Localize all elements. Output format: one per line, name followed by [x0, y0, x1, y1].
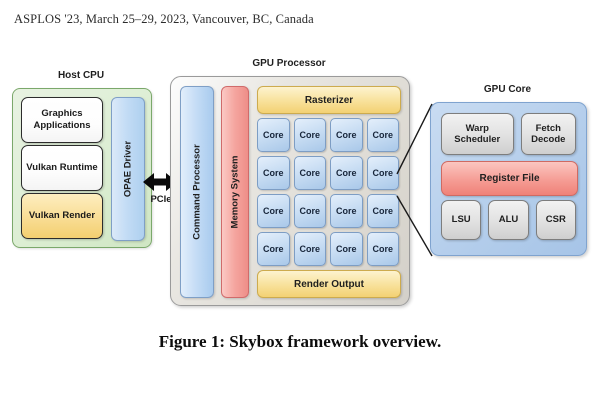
gpu-core-container: Warp Scheduler Fetch Decode Register Fil…	[430, 102, 587, 256]
host-cpu-software-stack: Graphics Applications Vulkan Runtime Vul…	[21, 97, 103, 239]
warp-scheduler-block: Warp Scheduler	[441, 113, 514, 155]
gpu-processor-container: Command Processor Memory System Rasteriz…	[170, 76, 410, 306]
gpu-core-frontend-row: Warp Scheduler Fetch Decode	[441, 113, 576, 155]
figure-skybox-framework: Host CPU Graphics Applications Vulkan Ru…	[0, 56, 600, 326]
figure-caption: Figure 1: Skybox framework overview.	[0, 332, 600, 352]
gpu-core-grid: CoreCoreCoreCoreCoreCoreCoreCoreCoreCore…	[257, 118, 399, 266]
command-processor-label: Command Processor	[192, 144, 203, 240]
csr-block: CSR	[536, 200, 576, 240]
core-cell: Core	[257, 156, 290, 190]
alu-block: ALU	[488, 200, 528, 240]
rasterizer-block: Rasterizer	[257, 86, 401, 114]
fetch-decode-block: Fetch Decode	[521, 113, 576, 155]
register-file-block: Register File	[441, 161, 578, 196]
lsu-block: LSU	[441, 200, 481, 240]
core-cell: Core	[257, 118, 290, 152]
core-cell: Core	[294, 118, 327, 152]
core-cell: Core	[294, 156, 327, 190]
core-cell: Core	[330, 156, 363, 190]
render-output-block: Render Output	[257, 270, 401, 298]
memory-system-block: Memory System	[221, 86, 249, 298]
vulkan-render-block: Vulkan Render	[21, 193, 103, 239]
vulkan-runtime-block: Vulkan Runtime	[21, 145, 103, 191]
graphics-applications-block: Graphics Applications	[21, 97, 103, 143]
gpu-core-group-label: GPU Core	[430, 84, 585, 95]
command-processor-block: Command Processor	[180, 86, 214, 298]
core-cell: Core	[330, 194, 363, 228]
core-cell: Core	[330, 118, 363, 152]
memory-system-label: Memory System	[230, 156, 241, 229]
gpu-processor-group-label: GPU Processor	[170, 58, 408, 69]
core-cell: Core	[367, 118, 400, 152]
core-cell: Core	[294, 232, 327, 266]
gpu-core-execution-row: LSU ALU CSR	[441, 200, 576, 240]
opae-driver-block: OPAE Driver	[111, 97, 145, 241]
core-cell: Core	[330, 232, 363, 266]
opae-driver-label: OPAE Driver	[123, 141, 134, 197]
core-cell: Core	[367, 194, 400, 228]
core-cell: Core	[257, 194, 290, 228]
core-cell: Core	[367, 232, 400, 266]
core-cell: Core	[367, 156, 400, 190]
core-cell: Core	[257, 232, 290, 266]
host-cpu-group-label: Host CPU	[12, 70, 150, 81]
core-cell: Core	[294, 194, 327, 228]
host-cpu-container: Graphics Applications Vulkan Runtime Vul…	[12, 88, 152, 248]
paper-venue-header: ASPLOS '23, March 25–29, 2023, Vancouver…	[14, 12, 314, 27]
